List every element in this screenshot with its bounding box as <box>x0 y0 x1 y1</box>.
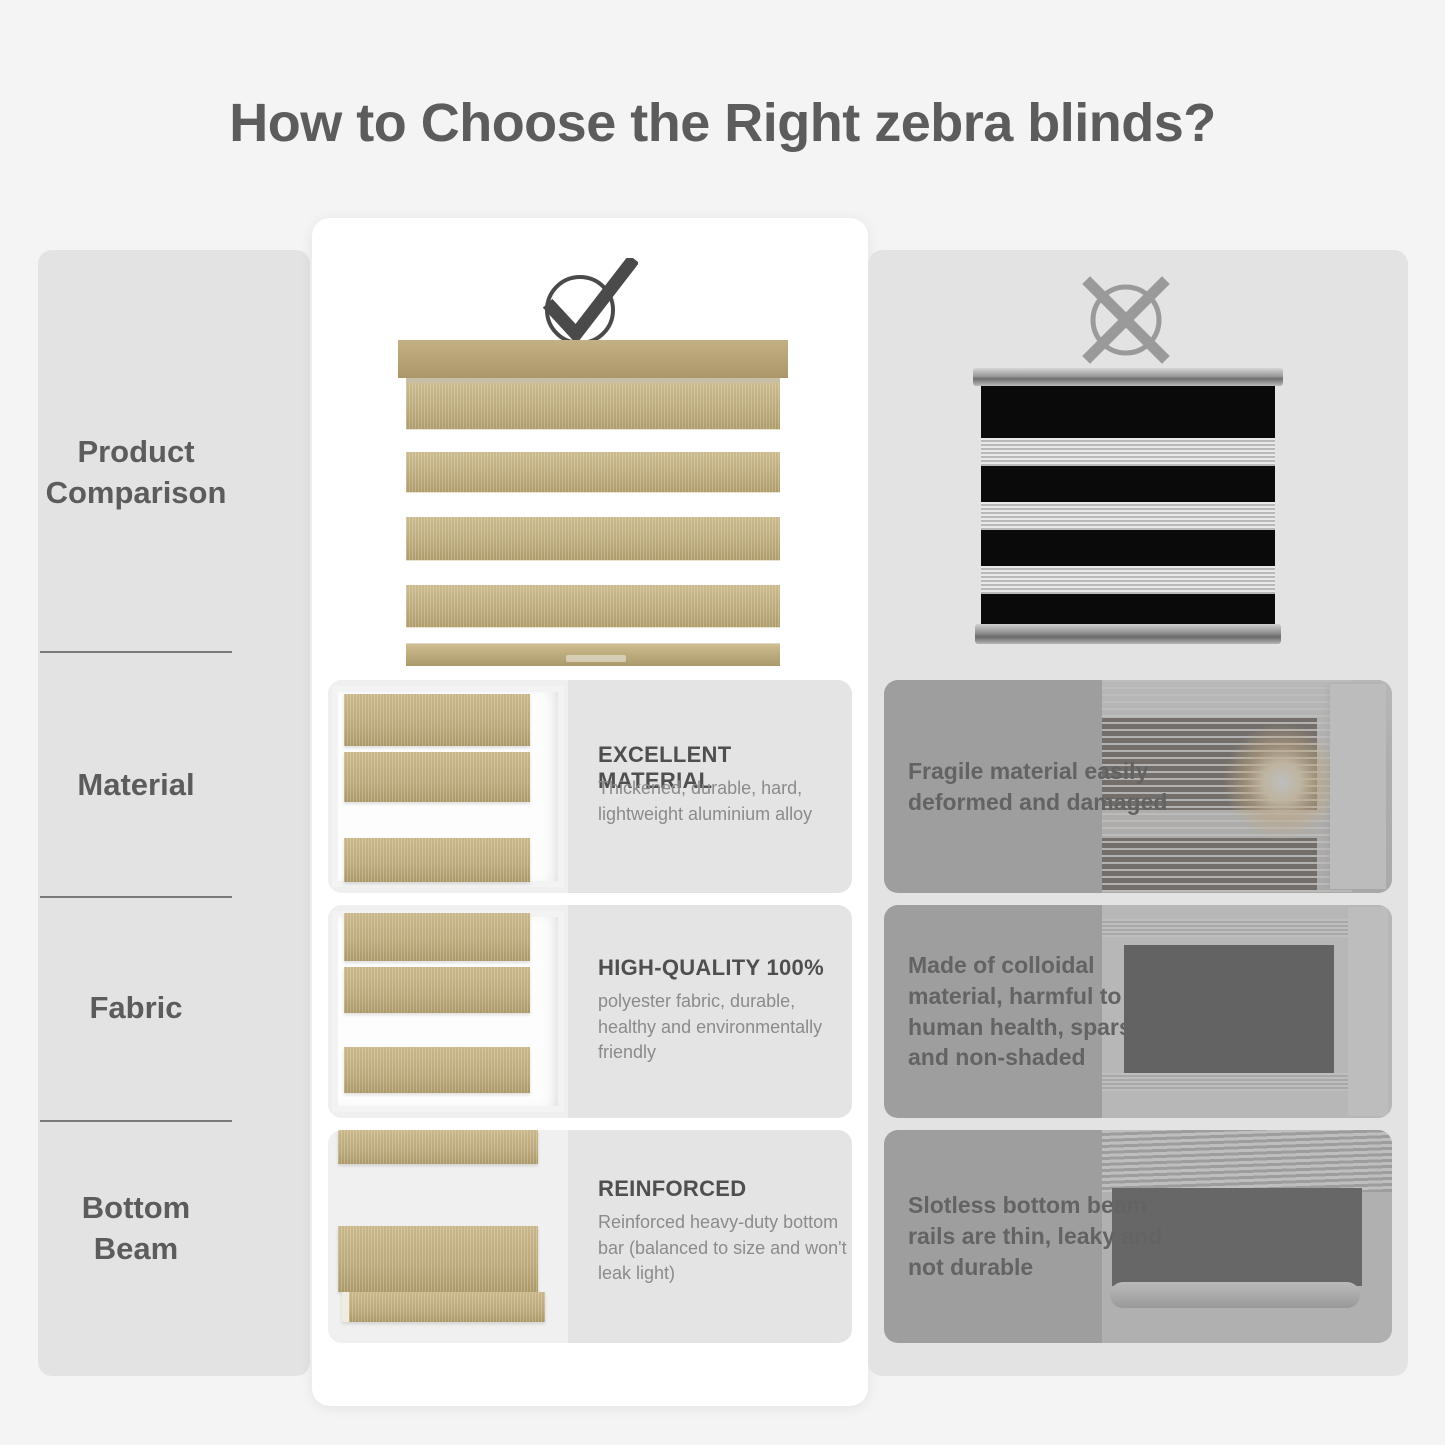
negative-text-material: Fragile material easily deformed and dam… <box>908 680 1178 893</box>
black-bottom-bar <box>975 624 1281 644</box>
sheer-band <box>981 502 1275 530</box>
row-label-bottom-beam: Bottom Beam <box>0 1188 272 1270</box>
feature-text-material: EXCELLENT MATERIAL Thickened, durable, h… <box>570 680 852 893</box>
negative-text: Made of colloidal material, harmful to h… <box>908 950 1178 1073</box>
tan-slat <box>406 585 780 628</box>
feature-heading: HIGH-QUALITY 100% <box>598 955 848 981</box>
feature-card-material: EXCELLENT MATERIAL Thickened, durable, h… <box>328 680 852 893</box>
negative-text: Fragile material easily deformed and dam… <box>908 756 1178 818</box>
negative-text: Slotless bottom beam rails are thin, lea… <box>908 1190 1178 1282</box>
feature-body: polyester fabric, durable, healthy and e… <box>598 989 850 1066</box>
feature-body: Reinforced heavy-duty bottom bar (balanc… <box>598 1210 850 1287</box>
negative-card-fabric: Made of colloidal material, harmful to h… <box>884 905 1392 1118</box>
feature-card-bottom-beam: REINFORCED Reinforced heavy-duty bottom … <box>328 1130 852 1343</box>
tan-bottom-bar <box>406 643 780 666</box>
row-divider-3 <box>40 1120 232 1122</box>
feature-image-fabric <box>328 905 568 1118</box>
black-headrail <box>973 368 1283 386</box>
feature-card-fabric: HIGH-QUALITY 100% polyester fabric, dura… <box>328 905 852 1118</box>
negative-card-material: Fragile material easily deformed and dam… <box>884 680 1392 893</box>
tan-slat <box>406 452 780 493</box>
row-label-line2: Comparison <box>0 473 272 514</box>
feature-text-bottom-beam: REINFORCED Reinforced heavy-duty bottom … <box>570 1130 852 1343</box>
sheer-band <box>981 566 1275 594</box>
negative-card-bottom-beam: Slotless bottom beam rails are thin, lea… <box>884 1130 1392 1343</box>
sheer-band <box>981 438 1275 466</box>
feature-image-material <box>328 680 568 893</box>
row-label-line2: Beam <box>0 1229 272 1270</box>
row-label-line1: Material <box>0 765 272 806</box>
tan-headrail <box>398 340 788 378</box>
feature-text-fabric: HIGH-QUALITY 100% polyester fabric, dura… <box>570 905 852 1118</box>
feature-image-bottom-beam <box>328 1130 568 1343</box>
black-zebra-blind-image <box>973 368 1283 650</box>
row-label-product-comparison: Product Comparison <box>0 432 272 514</box>
check-circle-icon <box>538 258 638 350</box>
feature-heading: REINFORCED <box>598 1176 848 1202</box>
tan-slat <box>406 517 780 561</box>
tan-slat <box>406 383 780 430</box>
infographic-page: How to Choose the Right zebra blinds? Pr… <box>0 0 1445 1445</box>
row-label-line1: Bottom <box>0 1188 272 1229</box>
black-fabric <box>981 386 1275 624</box>
row-label-line1: Fabric <box>0 988 272 1029</box>
cross-circle-icon <box>1080 272 1172 364</box>
row-label-line1: Product <box>0 432 272 473</box>
tan-zebra-blind-image <box>398 340 788 665</box>
negative-text-bottom-beam: Slotless bottom beam rails are thin, lea… <box>908 1130 1178 1343</box>
negative-text-fabric: Made of colloidal material, harmful to h… <box>908 905 1178 1118</box>
page-title: How to Choose the Right zebra blinds? <box>0 92 1445 154</box>
row-divider-2 <box>40 896 232 898</box>
row-label-material: Material <box>0 765 272 806</box>
row-divider-1 <box>40 651 232 653</box>
row-label-fabric: Fabric <box>0 988 272 1029</box>
feature-body: Thickened, durable, hard, lightweight al… <box>598 776 850 827</box>
